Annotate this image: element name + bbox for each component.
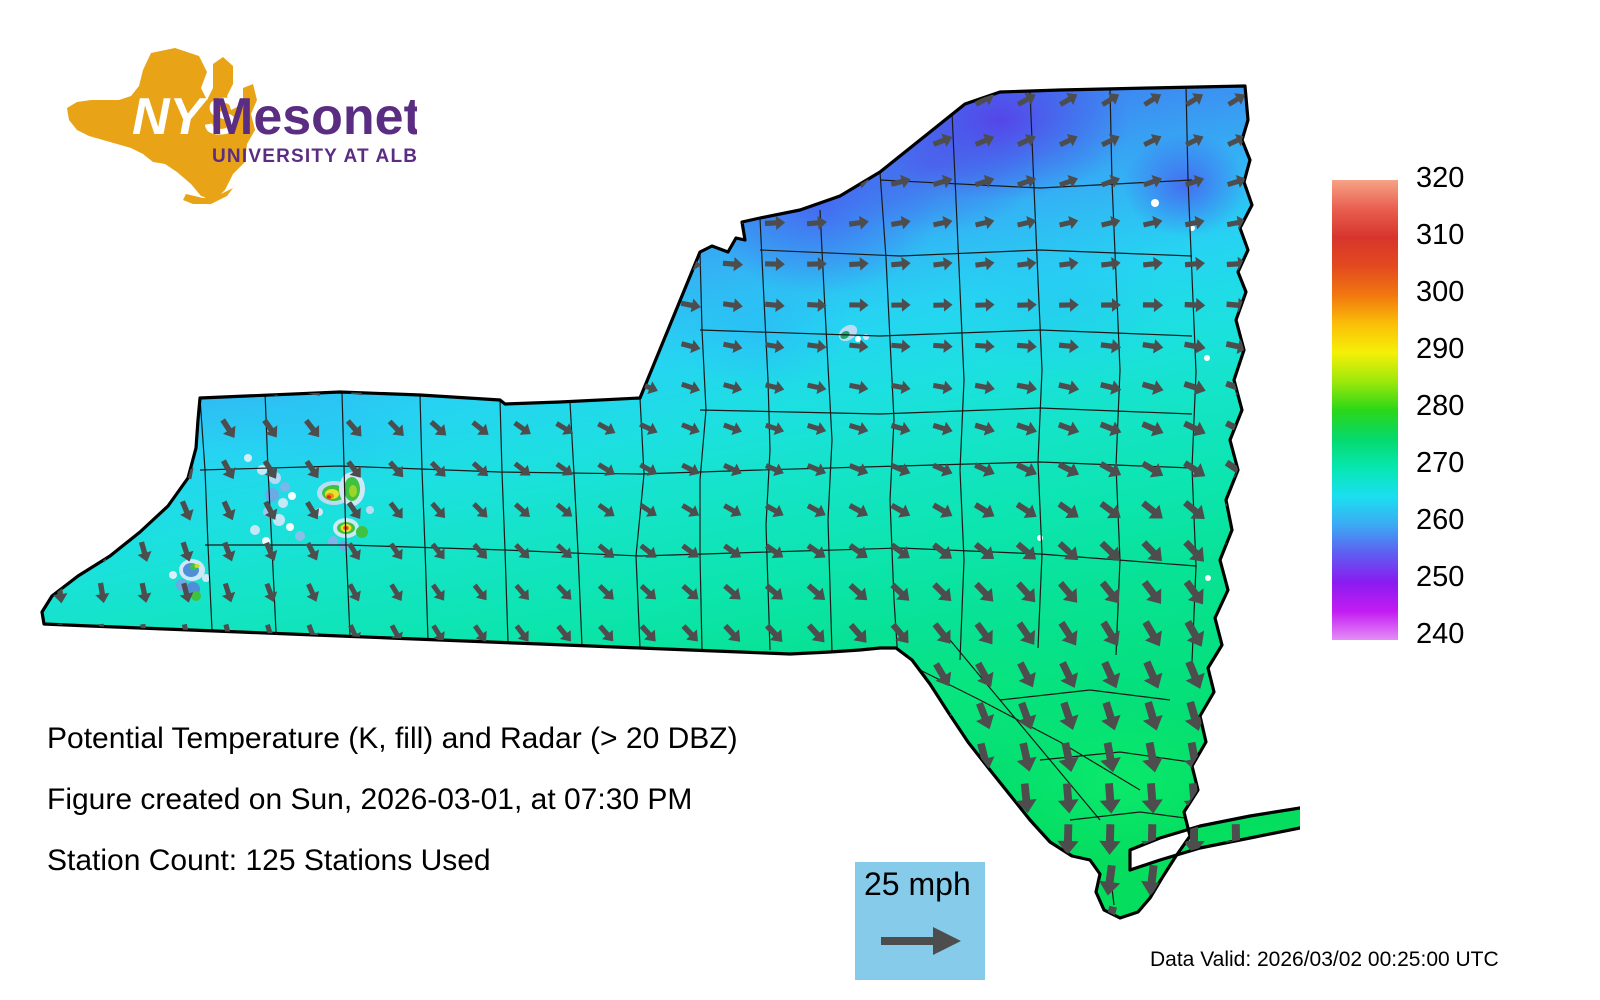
wind-arrow-icon [345,909,362,933]
wind-arrow-icon [847,131,871,150]
wind-arrow-icon [553,132,577,150]
wind-arrow-icon [50,173,71,191]
wind-arrow-icon [426,335,452,359]
wind-arrow-icon [90,334,115,360]
wind-arrow-icon [303,664,322,686]
wind-arrow-icon [845,701,873,732]
wind-arrow-icon [722,174,744,190]
wind-arrow-icon [596,866,617,894]
wind-arrow-icon [553,173,577,192]
wind-arrow-icon [805,824,828,854]
wind-arrow-icon [91,213,115,235]
wind-arrow-icon [595,173,619,191]
wind-arrow-icon [680,174,702,189]
wind-arrow-icon [301,131,325,151]
wind-arrow-icon [49,416,73,442]
colorbar-tick-280: 280 [1416,392,1464,421]
wind-arrow-icon [48,293,73,318]
wind-arrow-icon [174,252,200,277]
wind-arrow-icon [220,664,237,685]
wind-arrow-icon [554,867,575,895]
wind-arrow-icon [720,783,745,813]
wind-arrow-icon [300,334,326,360]
wind-arrow-icon [261,909,279,933]
wind-arrow-icon [384,293,410,318]
wind-arrow-icon [300,212,326,236]
wind-arrow-icon [638,133,660,149]
wind-arrow-icon [385,91,408,109]
wind-arrow-icon [384,334,410,359]
wind-arrow-icon [217,172,241,193]
wind-arrow-icon [513,908,532,934]
wind-arrow-icon [92,499,113,524]
wind-arrow-icon [49,253,73,276]
wind-arrow-icon [176,132,198,150]
wind-arrow-icon [342,171,368,193]
wind-arrow-icon [426,253,452,277]
wind-arrow-icon [637,825,660,854]
wind-arrow-icon [1221,617,1253,652]
wind-arrow-icon [931,89,956,111]
wind-arrow-icon [761,661,788,690]
wind-arrow-icon [889,89,914,110]
wind-arrow-icon [342,334,368,359]
wind-arrow-icon [132,253,157,277]
wind-arrow-icon [511,132,535,151]
wind-arrow-icon [178,665,194,686]
wind-arrow-icon [49,909,69,933]
wind-arrow-icon [720,906,743,937]
wind-arrow-icon [721,824,744,854]
wind-arrow-icon [468,294,494,317]
wind-arrow-icon [889,824,911,854]
wind-arrow-icon [553,825,575,853]
wind-legend-label: 25 mph [864,866,971,902]
wind-arrow-icon [90,293,115,318]
wind-arrow-icon [761,742,787,773]
wind-arrow-icon [930,783,954,815]
wind-arrow-icon [679,824,702,854]
wind-arrow-icon [510,294,535,316]
wind-arrow-icon [1054,904,1082,939]
wind-arrow-icon [512,867,532,894]
wind-arrow-icon [679,907,701,937]
wind-arrow-icon [469,91,492,109]
wind-arrow-icon [468,335,493,358]
wind-arrow-icon [428,663,449,687]
wind-arrow-icon [300,171,325,193]
wind-arrow-icon [343,131,367,151]
wind-arrow-icon [137,665,152,685]
wind-arrow-icon [132,293,158,319]
wind-arrow-icon [260,92,282,109]
wind-arrow-icon [469,131,494,151]
wind-arrow-icon [510,335,535,358]
wind-arrow-icon [888,783,913,814]
colorbar-panel: 320 310 300 290 280 270 260 250 240 [1332,176,1582,646]
wind-arrow-icon [174,416,198,442]
wind-arrow-icon [52,94,69,107]
wind-arrow-icon [553,254,578,275]
wind-arrow-icon [680,215,702,231]
wind-arrow-icon [845,660,873,690]
wind-arrow-icon [1181,905,1207,938]
wind-arrow-icon [134,133,155,150]
colorbar-tick-310: 310 [1416,221,1464,250]
wind-arrow-icon [762,783,787,814]
wind-arrow-icon [174,375,199,401]
wind-arrow-icon [300,252,327,277]
wind-arrow-icon [174,334,200,360]
wind-arrow-icon [258,171,283,193]
wind-arrow-icon [595,295,619,315]
wind-arrow-icon [1055,864,1080,897]
wind-arrow-icon [1221,658,1252,694]
wind-arrow-icon [427,131,452,151]
wind-arrow-icon [637,255,660,273]
wind-arrow-icon [48,334,73,360]
wind-arrow-icon [845,741,872,773]
wind-arrow-icon [132,334,158,360]
wind-reference-legend: 25 mph [855,862,985,980]
wind-arrow-icon [511,663,534,688]
wind-arrow-icon [596,133,619,150]
colorbar-gradient [1332,180,1398,640]
wind-arrow-icon [49,213,72,234]
wind-arrow-icon [174,293,200,319]
wind-arrow-icon [342,212,368,236]
colorbar-tick-290: 290 [1416,335,1464,364]
map-title-caption: Potential Temperature (K, fill) and Rada… [47,723,738,755]
wind-arrow-icon [386,663,406,686]
wind-arrow-icon [48,375,73,401]
wind-arrow-icon [258,252,284,277]
wind-arrow-icon [846,783,871,814]
wind-arrow-icon [806,173,828,190]
wind-arrow-icon [176,909,195,933]
created-caption: Figure created on Sun, 2026-03-01, at 07… [47,784,692,816]
colorbar-tick-260: 260 [1416,506,1464,535]
wind-arrow-icon [638,214,661,232]
wind-arrow-icon [638,907,659,936]
wind-arrow-icon [426,212,452,235]
wind-arrow-icon [219,92,240,108]
wind-arrow-icon [216,252,242,277]
wind-arrow-icon [93,133,113,149]
wind-arrow-icon [468,376,493,399]
wind-arrow-icon [1224,782,1248,815]
wind-arrow-icon [510,213,535,234]
wind-arrow-icon [385,131,410,151]
wind-arrow-icon [342,293,368,318]
wind-arrow-icon [133,172,156,192]
wind-arrow-icon [554,92,577,109]
wind-arrow-icon [91,416,115,442]
wind-arrow-icon [723,216,744,231]
wind-arrow-icon [638,174,661,191]
wind-arrow-icon [468,212,494,234]
wind-arrow-icon [219,909,237,933]
wind-arrow-icon [931,824,952,854]
wind-arrow-icon [468,253,494,276]
wind-arrow-icon [133,457,156,483]
wind-arrow-icon [91,457,114,483]
wind-arrow-icon [1222,699,1251,734]
wind-arrow-icon [680,866,701,895]
wind-arrow-icon [803,660,831,689]
wind-arrow-icon [1012,904,1040,939]
wind-arrow-icon [53,665,67,685]
wind-arrow-icon [427,91,450,109]
wind-arrow-icon [511,172,536,192]
wind-arrow-icon [595,336,619,356]
wind-arrow-icon [135,93,154,108]
wind-arrow-icon [300,293,327,319]
wind-arrow-icon [302,91,324,109]
wind-arrow-icon [1224,865,1247,896]
wind-arrow-icon [637,296,660,315]
wind-arrow-icon [259,132,282,152]
wind-arrow-icon [764,866,784,895]
wind-arrow-icon [469,663,491,687]
wind-arrow-icon [1223,905,1248,938]
wind-arrow-icon [216,212,242,235]
wind-arrow-icon [805,90,830,110]
wind-arrow-icon [847,824,869,854]
wind-arrow-icon [972,783,996,815]
wind-arrow-icon [51,133,70,148]
wind-arrow-icon [258,293,284,319]
wind-arrow-icon [721,91,745,109]
wind-arrow-icon [596,908,616,936]
wind-arrow-icon [596,92,618,108]
wind-arrow-icon [384,212,410,235]
wind-arrow-icon [52,624,67,645]
wind-arrow-icon [1138,904,1165,938]
wind-arrow-icon [387,909,404,933]
wind-arrow-icon [50,499,71,524]
wind-arrow-icon [805,131,829,150]
wind-arrow-icon [511,91,534,109]
wind-arrow-icon [803,701,830,732]
wind-arrow-icon [429,909,447,934]
wind-arrow-icon [384,252,411,276]
wind-arrow-icon [49,457,71,483]
wind-arrow-icon [595,377,619,398]
wind-arrow-icon [553,295,578,316]
wind-arrow-icon [722,866,743,895]
wind-arrow-icon [92,909,112,933]
wind-arrow-icon [803,742,830,773]
wind-arrow-icon [217,132,240,151]
wind-arrow-icon [553,336,577,357]
wind-arrow-icon [722,132,745,149]
wind-arrow-icon [95,665,109,685]
wind-arrow-icon [887,741,914,773]
wind-arrow-icon [92,173,114,192]
wind-arrow-icon [90,253,115,276]
wind-arrow-icon [719,661,745,689]
wind-arrow-icon [763,824,786,854]
wind-arrow-icon [553,213,578,233]
wind-arrow-icon [426,294,452,318]
colorbar-tick-270: 270 [1416,449,1464,478]
wind-arrow-icon [886,700,914,732]
wind-arrow-icon [973,824,994,854]
colorbar-tick-320: 320 [1416,164,1464,193]
colorbar-tick-240: 240 [1416,620,1464,649]
wind-arrow-icon [174,212,199,235]
wind-arrow-icon [216,293,242,319]
wind-arrow-icon [471,908,489,934]
wind-arrow-icon [638,92,660,108]
wind-arrow-icon [803,905,828,938]
wind-arrow-icon [847,89,872,110]
wind-arrow-icon [345,663,365,686]
wind-arrow-icon [51,540,70,564]
wind-arrow-icon [929,741,956,774]
wind-arrow-icon [553,662,577,687]
wind-arrow-icon [134,909,153,933]
colorbar-tick-300: 300 [1416,278,1464,307]
wind-arrow-icon [636,662,661,688]
colorbar-tick-250: 250 [1416,563,1464,592]
wind-arrow-icon [90,375,115,401]
wind-arrow-icon [384,171,410,193]
wind-arrow-icon [258,334,284,360]
wind-arrow-icon [216,334,242,360]
wind-arrow-icon [133,212,158,234]
data-valid-timestamp: Data Valid: 2026/03/02 00:25:00 UTC [1150,948,1499,971]
wind-arrow-icon [1223,740,1250,774]
wind-arrow-icon [512,826,534,853]
wind-arrow-icon [510,253,535,275]
wind-arrow-icon [344,91,367,109]
wind-arrow-icon [805,866,826,896]
wind-arrow-icon [177,92,197,108]
wind-arrow-icon [555,908,574,935]
wind-arrow-icon [1015,824,1037,855]
wind-arrow-icon [303,909,320,933]
wind-arrow-icon [680,91,703,108]
wind-arrow-icon [94,93,112,107]
wind-arrow-icon [426,172,451,194]
wind-arrow-icon [762,906,786,938]
ny-state-map[interactable] [0,0,1300,960]
wind-arrow-icon [553,377,577,399]
wind-arrow-icon [342,252,369,277]
wind-arrow-icon [595,214,619,233]
wind-arrow-icon [261,664,279,686]
wind-arrow-icon [258,212,284,236]
station-count-caption: Station Count: 125 Stations Used [47,845,491,877]
wind-arrow-icon [763,90,787,109]
wind-arrow-icon [1182,864,1206,896]
wind-arrow-icon [132,375,157,402]
wind-arrow-icon [175,172,199,193]
wind-arrow-icon [637,866,658,895]
wind-arrow-icon [678,661,704,688]
map-panel[interactable] [0,0,1300,960]
wind-arrow-icon [133,416,157,442]
wind-arrow-icon [680,133,702,149]
wind-arrow-icon [511,376,535,398]
wind-arrow-icon [886,660,915,691]
wind-arrow-icon [761,701,788,731]
wind-arrow-icon [468,172,493,193]
wind-legend-arrow-icon [879,924,963,958]
wind-arrow-icon [1013,864,1038,897]
wind-arrow-icon [595,255,619,274]
wind-arrow-icon [594,662,618,688]
wind-arrow-icon [764,174,786,191]
wind-arrow-icon [804,783,829,814]
wind-arrow-icon [763,132,786,150]
wind-arrow-icon [595,825,618,853]
